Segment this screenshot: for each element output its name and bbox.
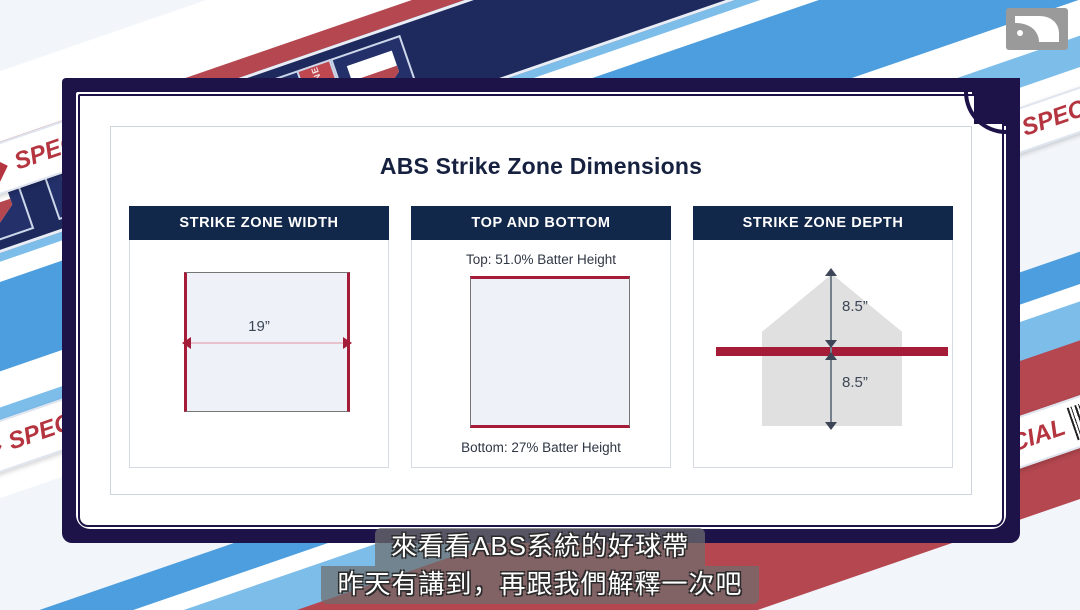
- width-measurement-label: 19”: [130, 318, 388, 335]
- panel-strike-zone-width: STRIKE ZONE WIDTH 19”: [129, 206, 389, 468]
- arrow-right-icon: [343, 337, 352, 349]
- panel-body-top-and-bottom: Top: 51.0% Batter Height Bottom: 27% Bat…: [411, 240, 671, 468]
- depth-dimension-line: [830, 274, 832, 426]
- panel-top-and-bottom: TOP AND BOTTOM Top: 51.0% Batter Height …: [411, 206, 671, 468]
- mlb-logo-icon: [1006, 8, 1068, 50]
- upper-depth-measurement-label: 8.5”: [842, 298, 868, 315]
- panel-header-strike-zone-width: STRIKE ZONE WIDTH: [129, 206, 389, 240]
- graphic-card: ABS Strike Zone Dimensions STRIKE ZONE W…: [62, 78, 1020, 543]
- panel-body-strike-zone-depth: 8.5” 8.5”: [693, 240, 953, 468]
- arrow-up-icon: [825, 352, 837, 360]
- barcode-icon: [1067, 393, 1080, 440]
- panel-header-top-and-bottom: TOP AND BOTTOM: [411, 206, 671, 240]
- card-content-sheet: ABS Strike Zone Dimensions STRIKE ZONE W…: [110, 126, 972, 495]
- card-inner-frame: ABS Strike Zone Dimensions STRIKE ZONE W…: [78, 94, 1004, 527]
- page-title: ABS Strike Zone Dimensions: [111, 127, 971, 180]
- subtitle-line-1: 來看看ABS系統的好球帶: [375, 528, 705, 566]
- lower-depth-measurement-label: 8.5”: [842, 374, 868, 391]
- width-dimension-line: [184, 342, 350, 344]
- top-boundary-label: Top: 51.0% Batter Height: [412, 252, 670, 267]
- panel-body-strike-zone-width: 19”: [129, 240, 389, 468]
- subtitle-overlay: 來看看ABS系統的好球帶 昨天有講到，再跟我們解釋一次吧: [0, 528, 1080, 604]
- diamond-icon: [0, 154, 12, 187]
- strike-zone-rectangle: [470, 276, 630, 428]
- panel-row: STRIKE ZONE WIDTH 19” TOP AND BOTTOM Top…: [111, 180, 971, 468]
- panel-header-strike-zone-depth: STRIKE ZONE DEPTH: [693, 206, 953, 240]
- subtitle-line-2: 昨天有講到，再跟我們解釋一次吧: [321, 566, 758, 604]
- arrow-left-icon: [182, 337, 191, 349]
- bottom-boundary-label: Bottom: 27% Batter Height: [412, 440, 670, 455]
- arrow-down-icon: [825, 422, 837, 430]
- arrow-up-icon: [825, 268, 837, 276]
- diamond-icon: [0, 434, 6, 467]
- arrow-down-icon: [825, 340, 837, 348]
- panel-strike-zone-depth: STRIKE ZONE DEPTH 8.5” 8.5”: [693, 206, 953, 468]
